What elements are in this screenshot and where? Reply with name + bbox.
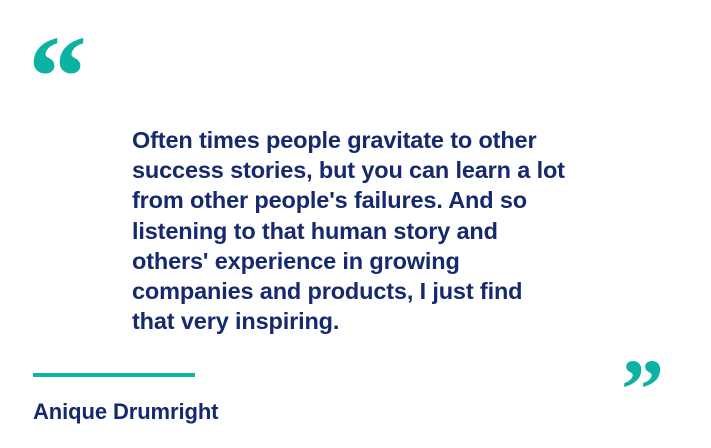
- attribution-divider: [33, 373, 195, 377]
- quote-card: “ Often times people gravitate to other …: [0, 0, 711, 448]
- attribution-name: Anique Drumright: [33, 400, 433, 424]
- quote-text: Often times people gravitate to other su…: [132, 125, 632, 336]
- attribution: Anique Drumright: [33, 373, 433, 424]
- closing-quote-mark-icon: ”: [621, 346, 663, 432]
- opening-quote-mark-icon: “: [28, 18, 85, 136]
